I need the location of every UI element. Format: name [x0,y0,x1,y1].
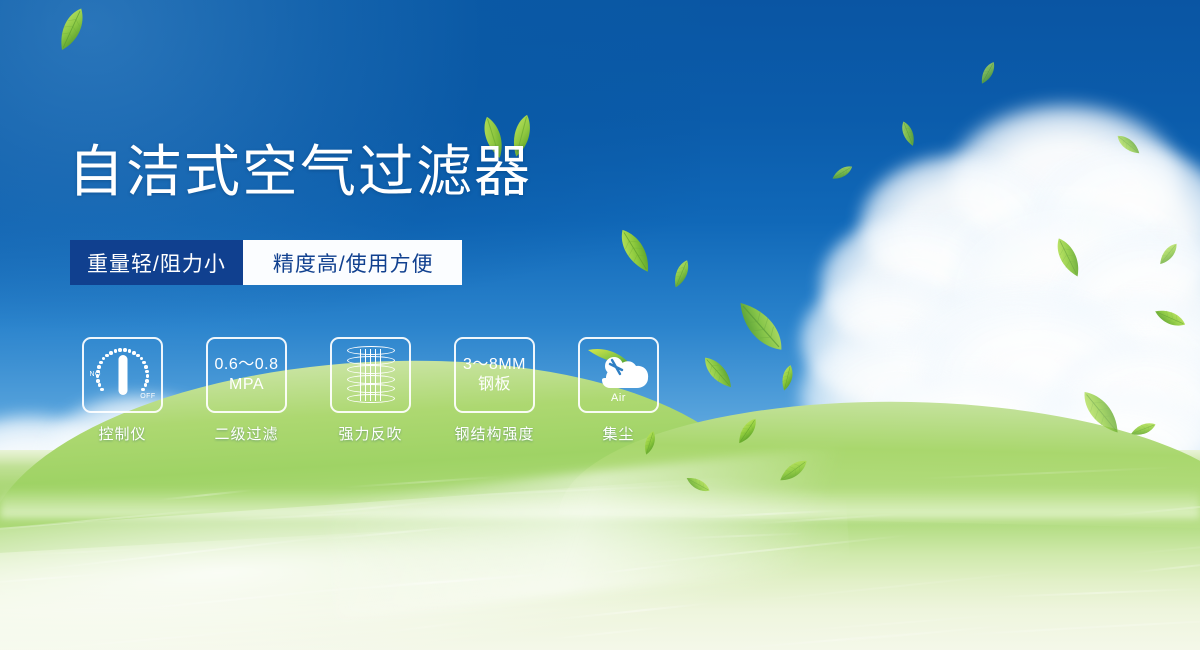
gauge-tick-dot [140,357,144,361]
feature-item-strong-backblow[interactable]: 强力反吹 [330,337,411,444]
pressure-value: 0.6～0.8 [215,355,279,375]
feature-icon-box: Air [578,337,659,413]
feature-label: 强力反吹 [330,423,411,444]
coil-ring [347,365,395,374]
gauge-tick-dot [128,349,132,353]
coil-ring [347,384,395,393]
gauge-label-off: OFF [140,393,155,400]
steel-material: 钢板 [463,375,526,395]
feature-list: NO OFF 控制仪 0.6～0.8 MPA 二级过滤 [82,337,659,444]
gauge-tick-dot [145,370,149,374]
subtitle-left-text: 重量轻/阻力小 [70,240,243,285]
subtitle-right-text: 精度高/使用方便 [267,240,462,285]
gauge-tick-dot [98,383,102,387]
steel-thickness: 3～8MM [463,355,526,375]
feature-item-two-stage-filter[interactable]: 0.6～0.8 MPA 二级过滤 [206,337,287,444]
coil-ring [347,346,395,355]
gauge-tick-dot [142,361,146,365]
gauge-label-no: NO [90,371,101,378]
feature-item-control-meter[interactable]: NO OFF 控制仪 [82,337,163,444]
gauge-tick-dot [96,379,100,383]
feature-icon-box: 0.6～0.8 MPA [206,337,287,413]
coil-ring [347,375,395,384]
coil-filter-icon [347,346,395,404]
gauge-tick-dot [146,374,150,378]
gauge-indicator-bar [118,355,127,395]
feature-label: 二级过滤 [206,423,287,444]
gauge-tick-dot [100,388,104,392]
feature-label: 集尘 [578,423,659,444]
subtitle-divider-slash [243,240,267,285]
gauge-tick-dot [102,357,106,361]
feature-label: 控制仪 [82,423,163,444]
coil-ring [347,394,395,403]
gauge-icon: NO OFF [91,345,155,405]
gauge-tick-dot [114,349,118,353]
steel-text-icon: 3～8MM 钢板 [463,355,526,395]
feature-item-dust-collection[interactable]: Air 集尘 [578,337,659,444]
banner-content: 自洁式空气过滤器 重量轻/阻力小 精度高/使用方便 NO OFF 控制仪 [0,0,1200,650]
gauge-tick-dot [118,348,122,352]
gauge-tick-dot [141,388,145,392]
feature-icon-box: NO OFF [82,337,163,413]
gauge-tick-dot [109,351,113,355]
subtitle-bar: 重量轻/阻力小 精度高/使用方便 [70,240,462,285]
gauge-tick-dot [144,383,148,387]
coil-ring [347,356,395,365]
product-banner: 自洁式空气过滤器 重量轻/阻力小 精度高/使用方便 NO OFF 控制仪 [0,0,1200,650]
gauge-tick-dot [136,354,140,358]
feature-label: 钢结构强度 [454,423,535,444]
feature-item-steel-strength[interactable]: 3～8MM 钢板 钢结构强度 [454,337,535,444]
pressure-text-icon: 0.6～0.8 MPA [215,355,279,395]
air-label: Air [584,392,654,404]
gauge-tick-dot [97,365,101,369]
gauge-tick-dot [99,361,103,365]
cloud-air-icon: Air [584,344,654,406]
gauge-tick-dot [145,379,149,383]
page-title: 自洁式空气过滤器 [68,141,532,203]
gauge-tick-dot [123,348,127,352]
gauge-tick-dot [144,365,148,369]
feature-icon-box: 3～8MM 钢板 [454,337,535,413]
feature-icon-box [330,337,411,413]
pressure-unit: MPA [215,375,279,395]
